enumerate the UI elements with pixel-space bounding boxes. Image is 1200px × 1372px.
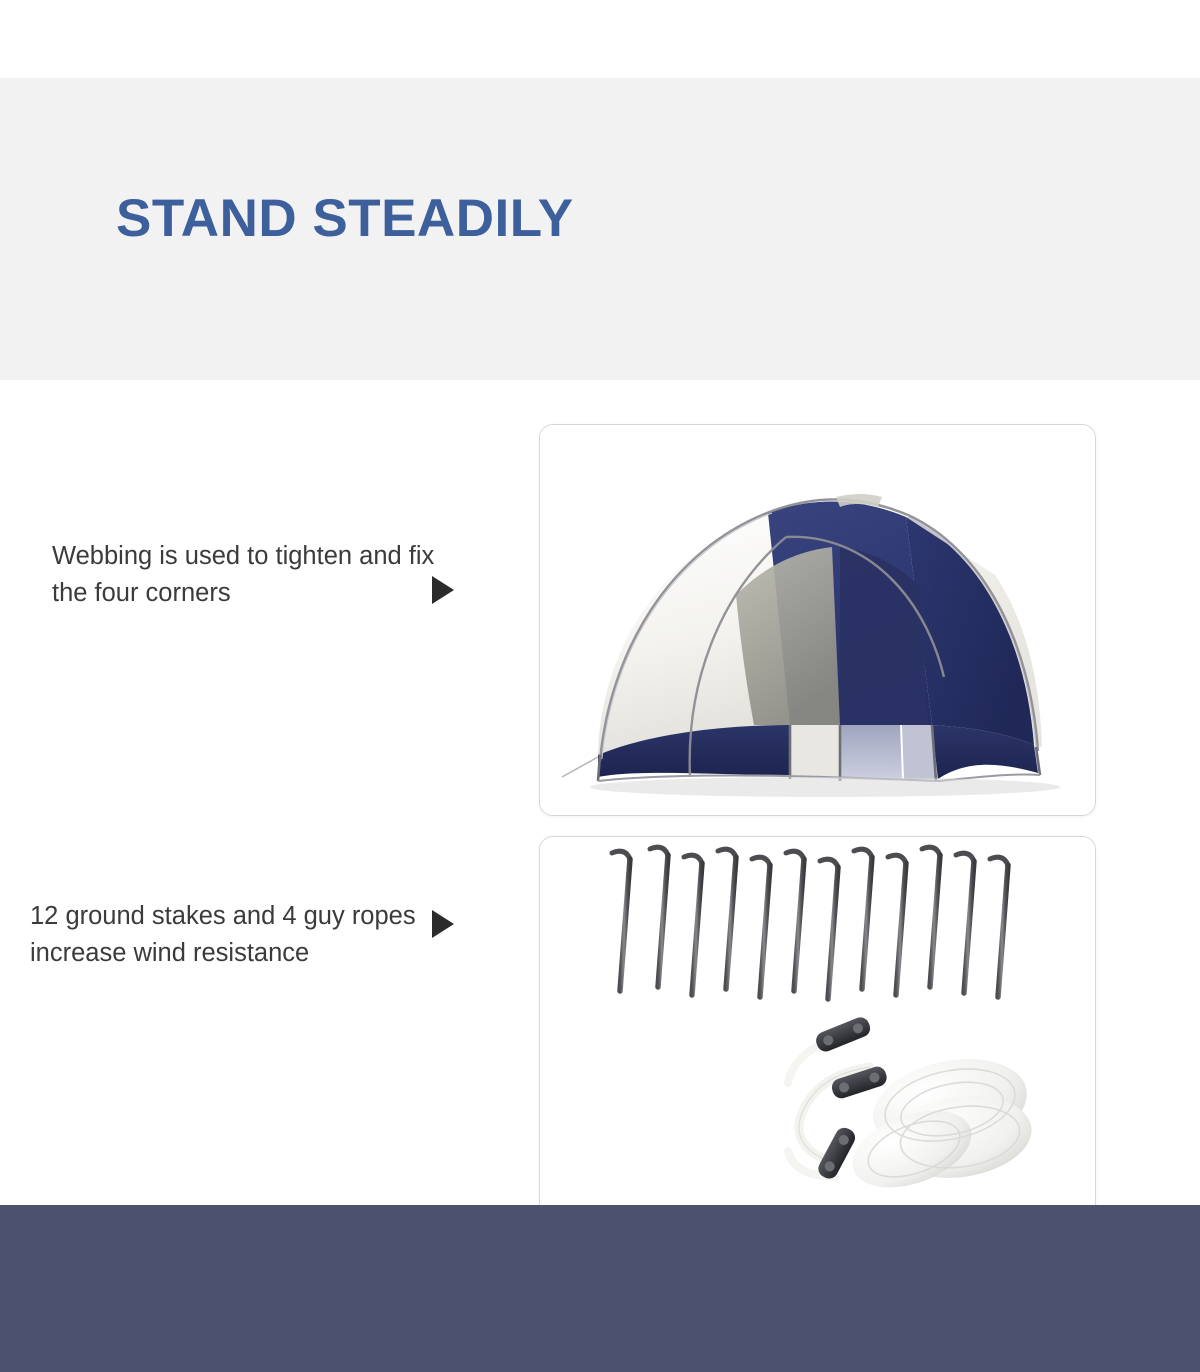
feature-image-card-stakes [539, 836, 1096, 1228]
ground-stakes-and-guy-ropes-photo [540, 837, 1095, 1227]
top-white-band [0, 0, 1200, 78]
footer-band [0, 1205, 1200, 1372]
dome-tent-photo [540, 425, 1095, 815]
feature-image-card-tent [539, 424, 1096, 816]
footer-band-inner [0, 1205, 1200, 1372]
product-feature-page: STAND STEADILY Webbing is used to tighte… [0, 0, 1200, 1372]
feature-caption-webbing: Webbing is used to tighten and fix the f… [52, 538, 452, 612]
arrow-right-icon [432, 910, 454, 938]
arrow-right-icon [432, 576, 454, 604]
page-title: STAND STEADILY [116, 190, 574, 248]
feature-caption-stakes: 12 ground stakes and 4 guy ropes increas… [30, 898, 480, 972]
